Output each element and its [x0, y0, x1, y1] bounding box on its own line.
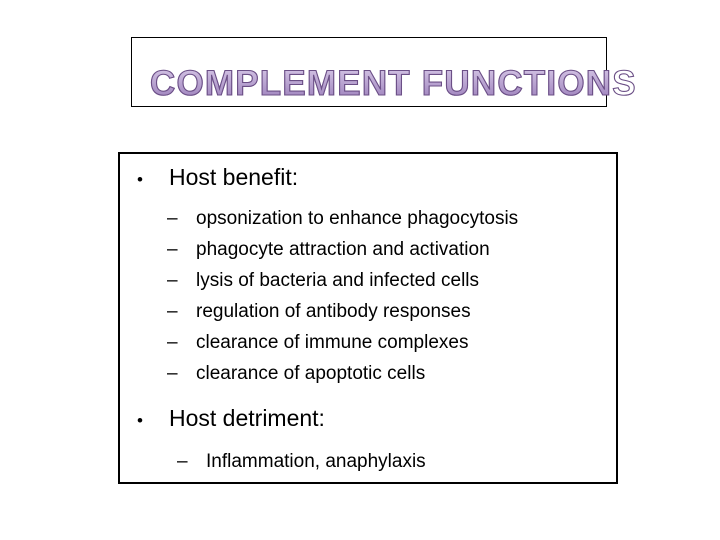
bullet-heading-label: Host benefit:	[169, 162, 298, 192]
dash-bullet-icon: –	[177, 446, 206, 477]
bullet-heading-host-detriment: • Host detriment:	[120, 403, 616, 436]
bullet-point-icon: •	[135, 406, 169, 436]
bullet-heading-label: Host detriment:	[169, 403, 325, 433]
dash-bullet-icon: –	[167, 327, 196, 358]
bullet-group-host-benefit: • Host benefit: – opsonization to enhanc…	[120, 162, 616, 389]
page-title: COMPLEMENT FUNCTIONS	[150, 61, 610, 113]
list-item-label: regulation of antibody responses	[196, 296, 471, 327]
list-item-label: clearance of apoptotic cells	[196, 358, 425, 389]
sub-bullet-list-host-detriment: – Inflammation, anaphylaxis	[120, 446, 616, 477]
list-item-label: Inflammation, anaphylaxis	[206, 446, 426, 477]
list-item-label: lysis of bacteria and infected cells	[196, 265, 479, 296]
list-item: – phagocyte attraction and activation	[120, 234, 616, 265]
list-item: – regulation of antibody responses	[120, 296, 616, 327]
bullet-point-icon: •	[135, 165, 169, 195]
dash-bullet-icon: –	[167, 203, 196, 234]
dash-bullet-icon: –	[167, 234, 196, 265]
dash-bullet-icon: –	[167, 265, 196, 296]
list-item-label: clearance of immune complexes	[196, 327, 468, 358]
content-box: • Host benefit: – opsonization to enhanc…	[118, 152, 618, 484]
bullet-group-host-detriment: • Host detriment: – Inflammation, anaphy…	[120, 403, 616, 477]
list-item: – Inflammation, anaphylaxis	[120, 446, 616, 477]
list-item-label: opsonization to enhance phagocytosis	[196, 203, 518, 234]
list-item: – lysis of bacteria and infected cells	[120, 265, 616, 296]
sub-bullet-list-host-benefit: – opsonization to enhance phagocytosis –…	[120, 203, 616, 389]
dash-bullet-icon: –	[167, 296, 196, 327]
dash-bullet-icon: –	[167, 358, 196, 389]
list-item: – clearance of apoptotic cells	[120, 358, 616, 389]
list-item-label: phagocyte attraction and activation	[196, 234, 490, 265]
list-item: – clearance of immune complexes	[120, 327, 616, 358]
list-item: – opsonization to enhance phagocytosis	[120, 203, 616, 234]
bullet-heading-host-benefit: • Host benefit:	[120, 162, 616, 195]
